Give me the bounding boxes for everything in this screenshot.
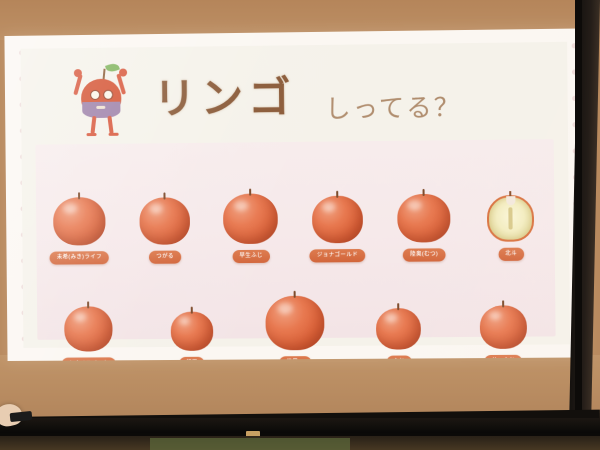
screen-frame-right-inner	[575, 0, 582, 450]
apple-photo	[170, 311, 213, 350]
mascot-body-lower	[82, 102, 120, 118]
apple-photo	[312, 195, 363, 243]
apple-row-1: 未希(みき)ライフつがる早生ふじジョナゴールド陸奥(むつ)北斗	[36, 143, 555, 265]
apple-variety-panel: 未希(みき)ライフつがる早生ふじジョナゴールド陸奥(むつ)北斗 シナノスイート紅…	[35, 139, 555, 340]
apple-core	[509, 207, 513, 229]
apple-photo	[53, 197, 106, 246]
apple-stem	[87, 301, 89, 308]
apple-stem	[336, 190, 338, 197]
apple-item: 早生ふじ	[207, 146, 294, 263]
mascot-leg-right	[107, 116, 113, 134]
apple-photo	[397, 193, 450, 242]
projected-slide: リンゴ しってる？ 未希(みき)ライフつがる早生ふじジョナゴールド陸奥(むつ)北…	[4, 28, 586, 361]
apple-mascot-icon	[63, 55, 138, 136]
apple-stem	[502, 300, 504, 307]
apple-item: 紅玉	[139, 261, 243, 361]
photo-scene: リンゴ しってる？ 未希(みき)ライフつがる早生ふじジョナゴールド陸奥(むつ)北…	[0, 0, 600, 450]
apple-item: 世界一	[243, 260, 348, 361]
apple-item: ふじ	[346, 259, 451, 361]
slide-header: リンゴ しってる？	[21, 42, 568, 141]
apple-item: 北斗	[467, 143, 555, 261]
apple-cut-section-image	[487, 195, 534, 242]
apple-photo	[480, 305, 527, 349]
apple-item: ジョナゴールド	[293, 145, 381, 263]
apple-item: シナノスイート	[37, 262, 141, 361]
apple-stem	[163, 192, 165, 199]
shelf-object	[150, 438, 350, 450]
mascot-mouth	[96, 106, 105, 109]
slide-subtitle: しってる？	[325, 88, 461, 126]
apple-stem	[294, 290, 296, 297]
apple-item: 陸奥(むつ)	[380, 144, 468, 262]
mascot-eye-left	[90, 90, 100, 100]
apple-item: 未希(みき)ライフ	[36, 148, 123, 265]
apple-stem	[78, 192, 80, 199]
apple-item: つがる	[121, 147, 208, 264]
mascot-eye-right	[103, 90, 113, 100]
slide-content-area: リンゴ しってる？ 未希(みき)ライフつがる早生ふじジョナゴールド陸奥(むつ)北…	[21, 42, 570, 348]
slide-title: リンゴ	[153, 63, 296, 126]
apple-variety-label: シナノスイート	[62, 357, 117, 361]
apple-stem	[249, 188, 251, 195]
apple-row-2: シナノスイート紅玉世界一ふじサンふじ	[37, 258, 556, 361]
apple-stem	[398, 303, 400, 310]
apple-photo	[223, 193, 278, 244]
apple-stem	[422, 189, 424, 196]
apple-photo	[64, 306, 113, 351]
apple-item: サンふじ	[450, 258, 556, 361]
apple-photo	[139, 197, 190, 245]
apple-stem	[190, 306, 192, 313]
mascot-leg-left	[90, 116, 96, 134]
mascot-foot-right	[109, 133, 119, 136]
apple-photo	[265, 295, 324, 350]
apple-top-notch	[506, 196, 515, 205]
apple-photo	[376, 308, 421, 350]
mascot-foot-left	[87, 133, 97, 136]
leaf-icon	[105, 62, 120, 74]
